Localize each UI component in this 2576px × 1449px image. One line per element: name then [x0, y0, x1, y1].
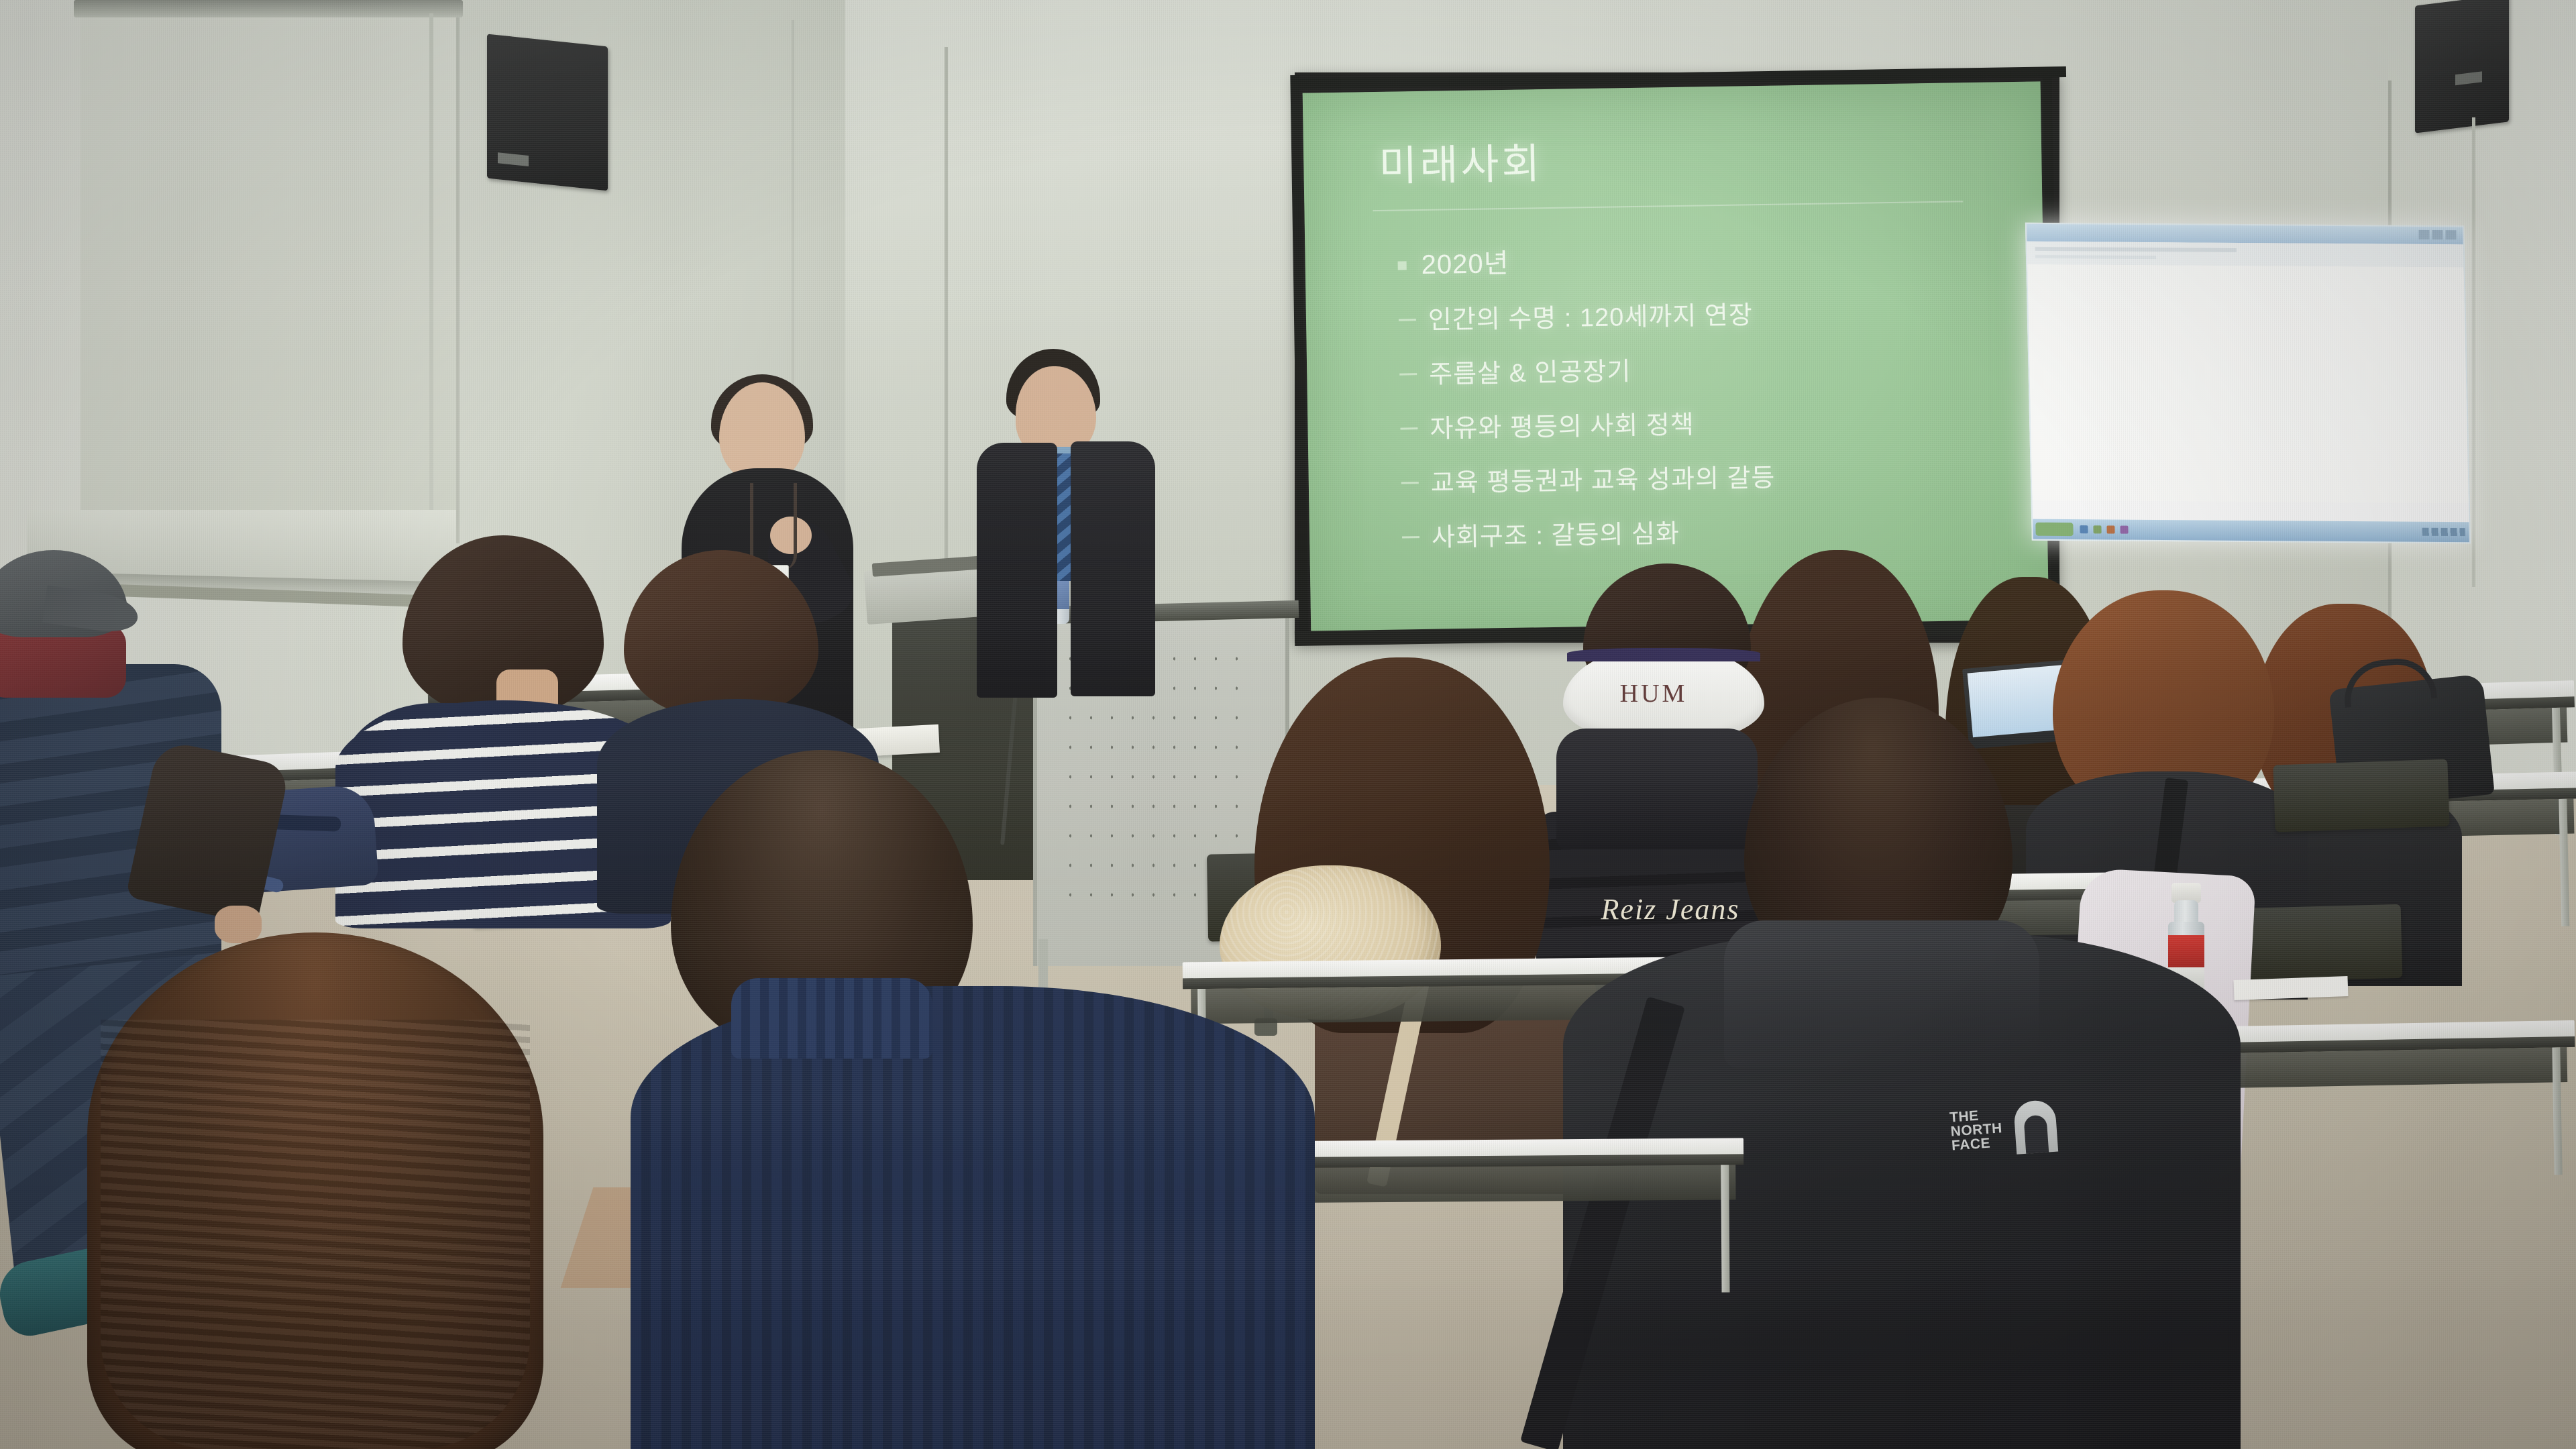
- suit-jacket-right: [1071, 441, 1155, 696]
- slide-bullet: 사회구조 : 갈등의 심화: [1402, 507, 2029, 554]
- slide-bullet-text: 사회구조 : 갈등의 심화: [1432, 513, 1680, 553]
- slide-bullet-text: 2020년: [1421, 241, 1509, 282]
- slide-bullet-text: 주름살 & 인공장기: [1429, 350, 1631, 390]
- taskbar-icon[interactable]: [2120, 526, 2128, 534]
- start-button-icon[interactable]: [2035, 523, 2073, 536]
- slide-content: 미래사회 2020년 인간의 수명 : 120세까지 연장 주름살 & 인공장기…: [1331, 109, 2029, 616]
- speaker-label: [2455, 71, 2482, 85]
- toolbar-line: [2035, 255, 2156, 259]
- secondary-projection-window: [2025, 223, 2471, 543]
- window-canvas: [2027, 264, 2469, 503]
- slide-bullet-text: 자유와 평등의 사회 정책: [1430, 404, 1695, 445]
- north-face-arc-icon: [2013, 1099, 2058, 1155]
- slide-bullet: 교육 평등권과 교육 성과의 갈등: [1401, 453, 2028, 500]
- hair: [624, 550, 818, 718]
- chair[interactable]: [2273, 759, 2449, 832]
- jacket-hood: [1724, 920, 2039, 1068]
- taskbar-icon[interactable]: [2093, 525, 2101, 533]
- system-tray-icon[interactable]: [2422, 528, 2465, 536]
- taskbar-icon[interactable]: [2080, 525, 2088, 533]
- slide-bullet-text: 교육 평등권과 교육 성과의 갈등: [1430, 457, 1776, 499]
- speaker-label: [498, 152, 529, 166]
- north-face-logo-icon: THE NORTH FACE: [1949, 1097, 2060, 1169]
- dash-bullet-icon: [1399, 373, 1417, 375]
- hood: [1556, 729, 1758, 849]
- wall-speaker-icon: [487, 34, 608, 191]
- window-controls-icon[interactable]: [2418, 230, 2457, 239]
- window-title: [2027, 224, 2463, 230]
- dash-bullet-icon: [1399, 319, 1416, 321]
- slide-bullet: 2020년: [1397, 233, 2025, 282]
- hand: [215, 906, 262, 943]
- classroom-photo: 미래사회 2020년 인간의 수명 : 120세까지 연장 주름살 & 인공장기…: [0, 0, 2576, 1449]
- speaker-cable: [2472, 117, 2475, 587]
- toolbar-line: [2035, 247, 2237, 252]
- cap-band: [1567, 648, 1760, 661]
- wall-speaker-icon: [2415, 0, 2509, 133]
- suit-jacket-left: [977, 443, 1057, 698]
- bottle-label-red: [2168, 935, 2204, 967]
- slide-bullet: 자유와 평등의 사회 정책: [1400, 398, 2027, 445]
- window-toolbar: [2027, 241, 2464, 268]
- hair-strands: [101, 1020, 530, 1449]
- blind-roller[interactable]: [74, 0, 463, 17]
- presenter-man: [979, 349, 1154, 698]
- square-bullet-icon: [1398, 261, 1407, 270]
- slide-divider: [1373, 201, 1963, 211]
- desk-leg: [1721, 1165, 1729, 1292]
- dash-bullet-icon: [1402, 536, 1419, 538]
- taskbar[interactable]: [2033, 519, 2469, 543]
- turtleneck-collar: [731, 978, 932, 1059]
- brand-text: THE NORTH FACE: [1949, 1107, 2004, 1152]
- taskbar-icon[interactable]: [2106, 525, 2114, 533]
- slide-bullet-text: 인간의 수명 : 120세까지 연장: [1428, 294, 1753, 336]
- slide-bullet: 주름살 & 인공장기: [1399, 344, 2027, 391]
- dash-bullet-icon: [1400, 427, 1417, 429]
- window-blind[interactable]: [80, 0, 460, 543]
- slide-bullet: 인간의 수명 : 120세까지 연장: [1398, 290, 2025, 337]
- slide-bullet-list: 2020년 인간의 수명 : 120세까지 연장 주름살 & 인공장기 자유와 …: [1397, 233, 2029, 554]
- paper-sheet: [2234, 976, 2349, 1000]
- blind-chain[interactable]: [429, 13, 433, 523]
- slide-title: 미래사회: [1379, 122, 2023, 193]
- dash-bullet-icon: [1401, 482, 1419, 484]
